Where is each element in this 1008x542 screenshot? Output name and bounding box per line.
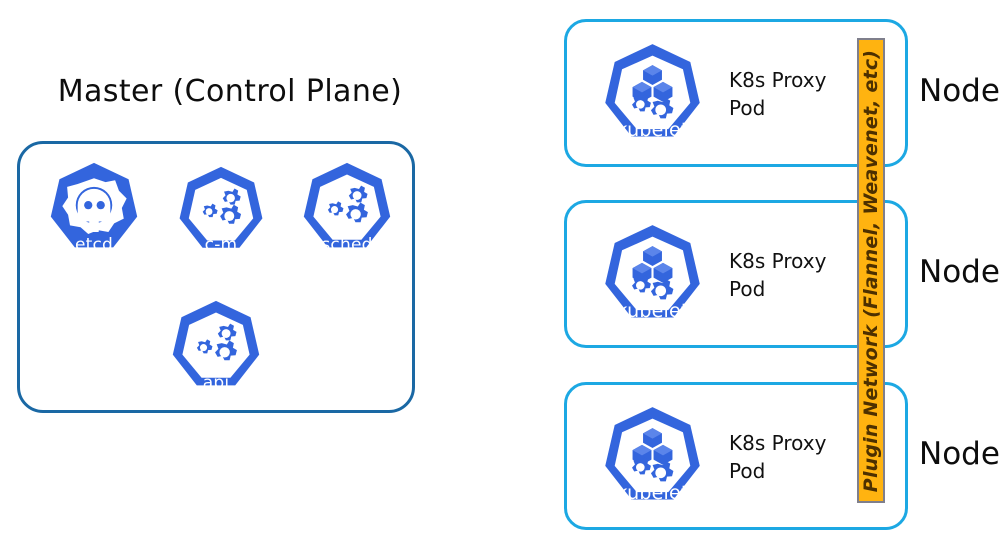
kubelet-icon — [600, 405, 705, 510]
node-component-kubelet[interactable]: kubelet — [600, 405, 705, 510]
node-component-kubelet[interactable]: kubelet — [600, 223, 705, 328]
plugin-network-bar: Plugin Network (Flannel, Weavenet, etc) — [857, 38, 885, 503]
gears-icon — [299, 161, 395, 257]
gears-icon — [168, 299, 264, 395]
node-contents-text: K8s Proxy Pod — [729, 248, 826, 303]
node-label: Node — [919, 73, 1000, 109]
kubelet-icon — [600, 223, 705, 328]
etcd-icon — [46, 161, 142, 257]
master-component-controller-manager[interactable]: c-m — [175, 165, 267, 257]
node-contents-text: K8s Proxy Pod — [729, 67, 826, 122]
node-contents-text: K8s Proxy Pod — [729, 430, 826, 485]
node-label: Node — [919, 436, 1000, 472]
plugin-network-label: Plugin Network (Flannel, Weavenet, etc) — [860, 49, 882, 491]
node-component-kubelet[interactable]: kubelet — [600, 42, 705, 147]
master-component-api-server[interactable]: api — [168, 299, 264, 395]
master-title: Master (Control Plane) — [30, 74, 430, 109]
kubelet-icon — [600, 42, 705, 147]
master-component-etcd[interactable]: etcd — [46, 161, 142, 257]
master-component-scheduler[interactable]: sched — [299, 161, 395, 257]
gears-icon — [175, 165, 267, 257]
node-label: Node — [919, 254, 1000, 290]
